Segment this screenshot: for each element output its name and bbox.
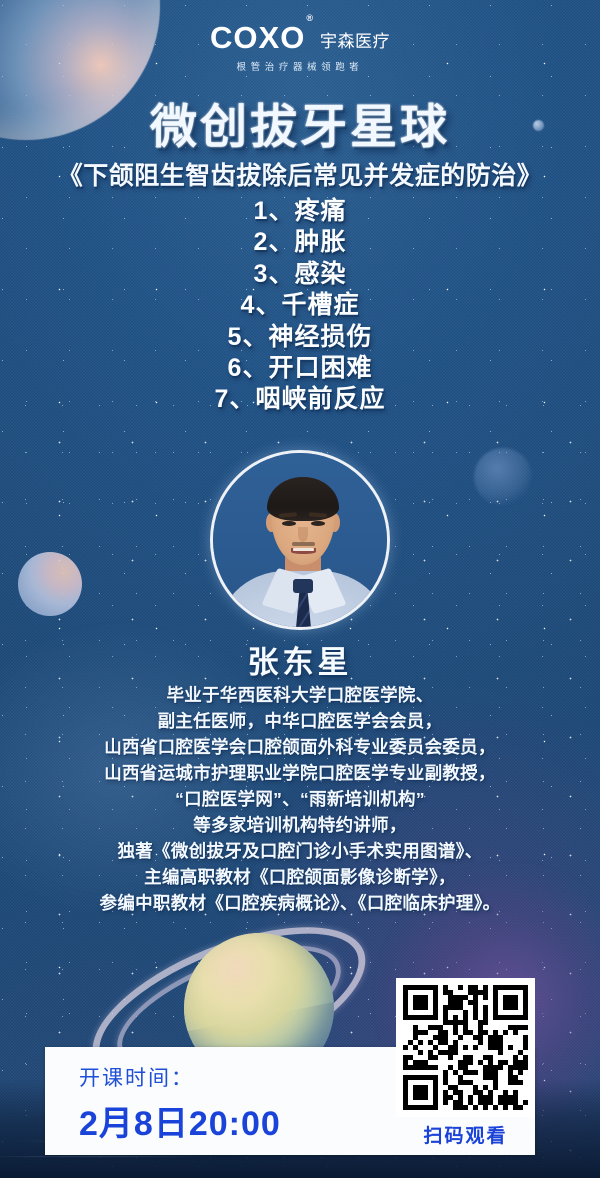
list-item: 7、咽峡前反应	[215, 384, 386, 415]
avatar-nose	[298, 527, 308, 542]
list-item: 5、神经损伤	[228, 322, 373, 353]
brand-tagline: 根管治疗器械领跑者	[237, 59, 364, 73]
list-item: 3、感染	[254, 259, 347, 290]
avatar	[210, 450, 390, 630]
bio-line: 山西省运城市护理职业学院口腔医学专业副教授，	[104, 760, 496, 786]
poster-content: COXO® 宇森医疗 根管治疗器械领跑者 微创拔牙星球 《下颌阻生智齿拔除后常见…	[0, 0, 600, 1178]
page-subtitle: 《下颌阻生智齿拔除后常见并发症的防治》	[0, 156, 600, 192]
avatar-moustache	[292, 542, 315, 546]
bio-line: 等多家培训机构特约讲师，	[193, 812, 407, 838]
brand-name-cn: 宇森医疗	[320, 33, 390, 50]
speaker-bio: 毕业于华西医科大学口腔医学院、 副主任医师，中华口腔医学会会员， 山西省口腔医学…	[0, 682, 600, 916]
brand-logo: COXO® 宇森医疗 根管治疗器械领跑者	[0, 22, 600, 73]
brand-wordmark: COXO®	[210, 22, 313, 53]
symptom-list: 1、疼痛 2、肿胀 3、感染 4、千槽症 5、神经损伤 6、开口困难 7、咽峡前…	[0, 196, 600, 416]
list-item: 4、千槽症	[241, 290, 360, 321]
bio-line: “口腔医学网”、“雨新培训机构”	[175, 786, 425, 812]
bio-line: 主编高职教材《口腔颌面影像诊断学》，	[144, 864, 456, 890]
bio-line: 副主任医师，中华口腔医学会会员，	[158, 708, 443, 734]
avatar-eye-left	[282, 521, 296, 526]
avatar-eye-right	[311, 521, 325, 526]
bio-line: 参编中职教材《口腔疾病概论》、《口腔临床护理》。	[100, 890, 501, 916]
speaker-name: 张东星	[0, 637, 600, 682]
avatar-necktie-knot	[293, 579, 313, 593]
bio-line: 山西省口腔医学会口腔颌面外科专业委员会委员，	[104, 734, 496, 760]
qr-caption: 扫码观看	[396, 1121, 535, 1148]
qr-code-matrix	[403, 985, 528, 1110]
list-item: 1、疼痛	[254, 196, 347, 227]
brand-logo-row: COXO® 宇森医疗	[210, 22, 390, 53]
bio-line: 独著《微创拔牙及口腔门诊小手术实用图谱》、	[117, 838, 482, 864]
qr-code-icon[interactable]	[396, 978, 535, 1117]
bio-line: 毕业于华西医科大学口腔医学院、	[167, 682, 434, 708]
brand-wordmark-text: COXO	[210, 20, 305, 55]
registered-trademark-icon: ®	[306, 13, 314, 23]
avatar-teeth	[293, 548, 314, 551]
poster-canvas: COXO® 宇森医疗 根管治疗器械领跑者 微创拔牙星球 《下颌阻生智齿拔除后常见…	[0, 0, 600, 1178]
list-item: 2、肿胀	[254, 227, 347, 258]
schedule-label: 开课时间：	[79, 1062, 194, 1092]
list-item: 6、开口困难	[228, 353, 373, 384]
page-title: 微创拔牙星球	[0, 88, 600, 157]
schedule-value: 2月8日20:00	[79, 1096, 281, 1145]
